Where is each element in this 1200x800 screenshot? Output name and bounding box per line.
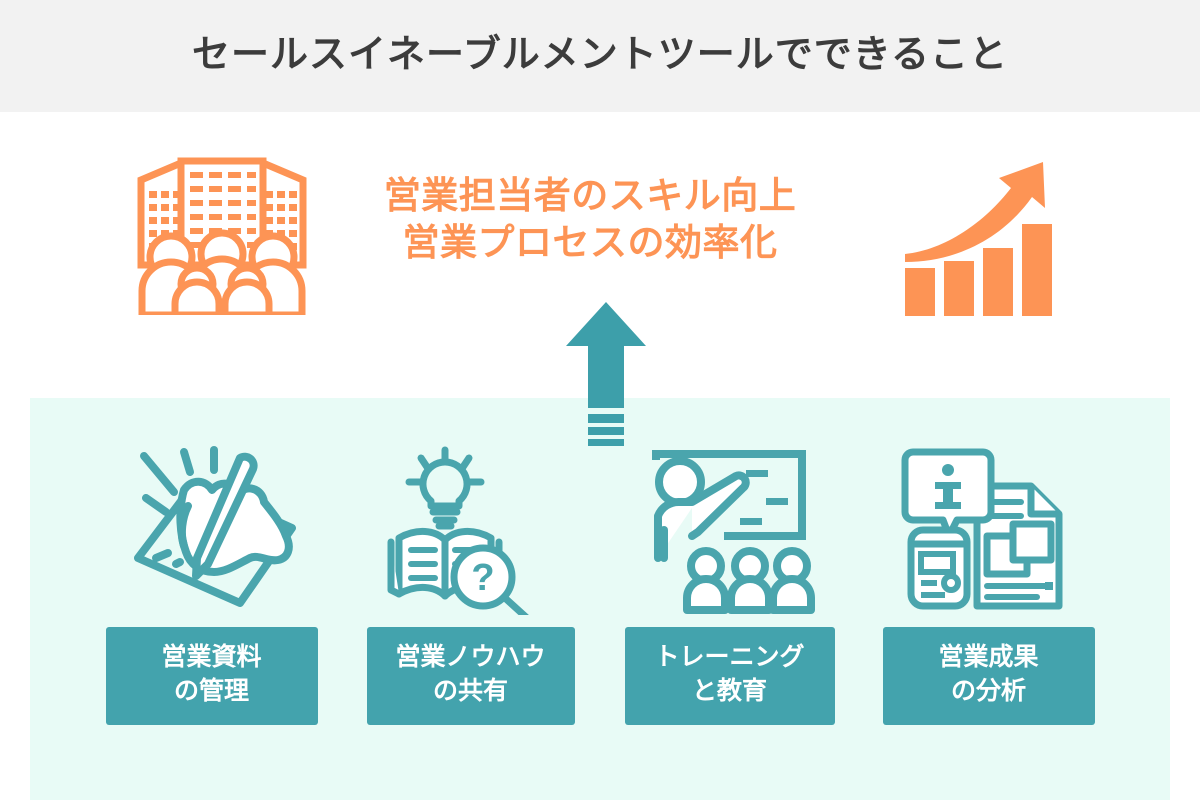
capability-label: トレーニング と教育 xyxy=(625,627,835,725)
page-title: セールスイネーブルメントツールでできること xyxy=(192,35,1008,77)
buildings-and-people-icon xyxy=(133,147,311,315)
capability-label-line-2: の共有 xyxy=(377,675,565,709)
capability-card-sales-materials[interactable]: 営業資料 の管理 xyxy=(104,440,319,760)
headline-line-1: 営業担当者のスキル向上 xyxy=(350,172,830,219)
capability-label-line-1: トレーニング xyxy=(635,641,825,675)
capability-label: 営業資料 の管理 xyxy=(106,627,318,725)
header-band: セールスイネーブルメントツールでできること xyxy=(0,0,1200,112)
upward-arrow-icon xyxy=(562,298,650,446)
growth-chart-icon xyxy=(893,150,1071,316)
capability-label: 営業ノウハウ の共有 xyxy=(367,627,575,725)
capability-card-training[interactable]: トレーニング と教育 xyxy=(622,440,837,760)
outcomes-headline: 営業担当者のスキル向上 営業プロセスの効率化 xyxy=(350,172,830,267)
hand-writing-document-icon xyxy=(122,440,302,615)
capability-label-line-2: の管理 xyxy=(116,675,308,709)
capability-label-line-1: 営業資料 xyxy=(116,641,308,675)
capability-label-line-2: と教育 xyxy=(635,675,825,709)
trainer-whiteboard-audience-icon xyxy=(640,440,820,615)
svg-text:?: ? xyxy=(471,557,494,599)
lightbulb-book-magnifier-icon: ? xyxy=(381,440,561,615)
capability-label: 営業成果 の分析 xyxy=(883,627,1095,725)
capability-card-sales-knowhow[interactable]: ? 営業ノウハウ の共有 xyxy=(363,440,578,760)
capability-card-sales-analysis[interactable]: 営業成果 の分析 xyxy=(881,440,1096,760)
report-device-analysis-icon xyxy=(899,440,1079,615)
capability-label-line-1: 営業ノウハウ xyxy=(377,641,565,675)
capability-label-line-1: 営業成果 xyxy=(893,641,1085,675)
capability-label-line-2: の分析 xyxy=(893,675,1085,709)
capability-cards: 営業資料 の管理 xyxy=(30,440,1170,760)
headline-line-2: 営業プロセスの効率化 xyxy=(350,219,830,266)
infographic-canvas: セールスイネーブルメントツールでできること xyxy=(0,0,1200,800)
